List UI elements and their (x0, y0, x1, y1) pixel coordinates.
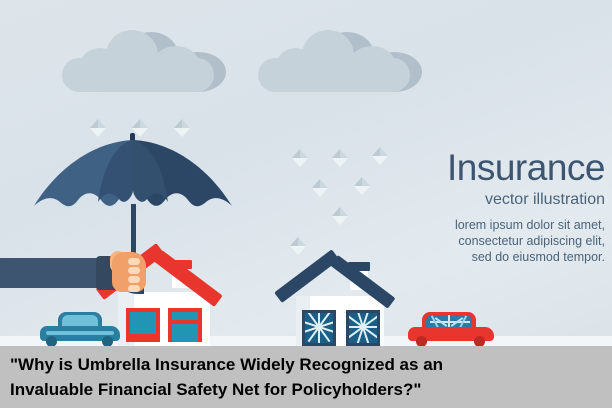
broken-window (302, 310, 336, 346)
cloud-lump (80, 48, 120, 84)
cloud-lump (348, 46, 396, 86)
caption-bar: "Why is Umbrella Insurance Widely Recogn… (0, 346, 612, 408)
subtitle: vector illustration (420, 190, 605, 210)
car-wheel (416, 336, 427, 346)
house-door (168, 308, 202, 342)
house-window (126, 308, 160, 342)
page-title: Insurance (420, 148, 605, 188)
shattered-glass-icon (349, 313, 377, 343)
storm-cloud-left (62, 30, 232, 92)
knuckle (128, 267, 140, 274)
cloud-lump (152, 46, 200, 86)
screenshot-root: Insurance vector illustration lorem ipsu… (0, 0, 612, 408)
shattered-glass-icon (305, 313, 333, 343)
lorem-line: consectetur adipiscing elit, (420, 233, 605, 249)
knuckle (128, 285, 140, 292)
insurance-illustration: Insurance vector illustration lorem ipsu… (0, 0, 612, 346)
red-car-damaged (408, 312, 494, 342)
knuckle (128, 258, 140, 265)
car-side-trim (46, 331, 114, 335)
blue-car (40, 312, 120, 342)
broken-window (346, 310, 380, 346)
protective-umbrella (34, 140, 234, 260)
knuckle (128, 276, 140, 283)
lorem-paragraph: lorem ipsum dolor sit amet, consectetur … (420, 217, 605, 265)
car-wheel (46, 336, 57, 346)
roof-left-slope (274, 249, 339, 303)
caption-line-1: "Why is Umbrella Insurance Widely Recogn… (10, 352, 602, 377)
car-wheel (474, 336, 485, 346)
lorem-line: lorem ipsum dolor sit amet, (420, 217, 605, 233)
cloud-lump (276, 48, 316, 84)
lorem-line: sed do eiusmod tempor. (420, 249, 605, 265)
car-wheel (102, 336, 113, 346)
insurance-text-block: Insurance vector illustration lorem ipsu… (420, 148, 605, 265)
caption-line-2: Invaluable Financial Safety Net for Poli… (10, 377, 602, 402)
umbrella-canopy (34, 140, 234, 212)
storm-cloud-right (258, 30, 428, 92)
damaged-house (276, 256, 406, 346)
